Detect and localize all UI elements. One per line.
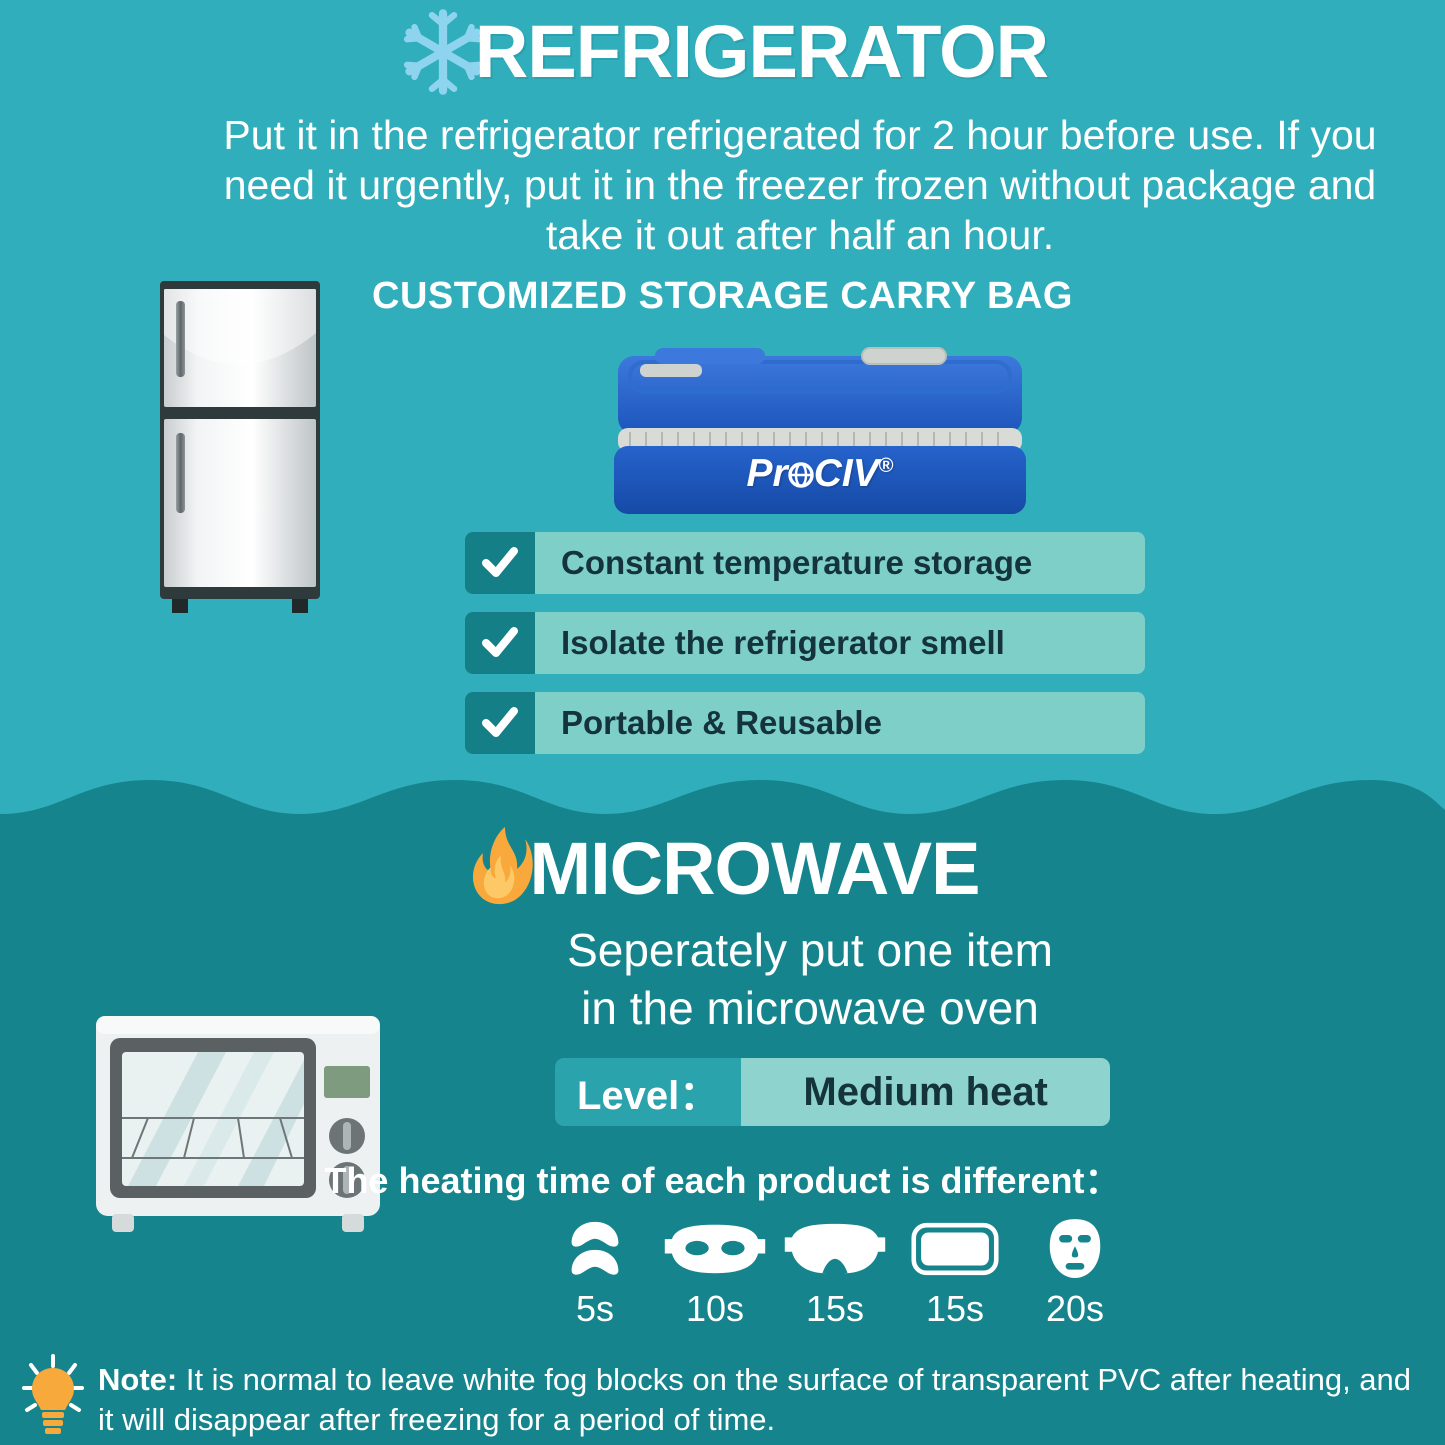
list-item: 15s bbox=[900, 1218, 1010, 1330]
level-value: Medium heat bbox=[741, 1058, 1110, 1126]
goggle-mask-icon bbox=[781, 1218, 889, 1280]
check-icon bbox=[465, 692, 535, 754]
footer-note: Note: It is normal to leave white fog bl… bbox=[22, 1352, 1432, 1442]
time-label: 10s bbox=[686, 1288, 744, 1330]
feature-label: Portable & Reusable bbox=[535, 692, 1145, 754]
time-label: 5s bbox=[576, 1288, 614, 1330]
list-item: Constant temperature storage bbox=[465, 532, 1145, 594]
list-item: 20s bbox=[1020, 1218, 1130, 1330]
check-icon bbox=[465, 532, 535, 594]
level-badge: Level： Medium heat bbox=[555, 1058, 1110, 1126]
list-item: 15s bbox=[780, 1218, 890, 1330]
feature-list: Constant temperature storage Isolate the… bbox=[465, 532, 1145, 772]
refrigerator-illustration bbox=[150, 275, 330, 615]
bag-brand-logo: PrCIV® bbox=[600, 452, 1040, 496]
list-item: 10s bbox=[660, 1218, 770, 1330]
brand-prefix: Pr bbox=[747, 452, 788, 495]
time-label: 15s bbox=[806, 1288, 864, 1330]
microwave-oven-illustration bbox=[88, 1008, 388, 1243]
refrigerator-instructions: Put it in the refrigerator refrigerated … bbox=[215, 110, 1385, 260]
microwave-instruction-line-1: Seperately put one item bbox=[430, 922, 1190, 980]
flame-icon bbox=[465, 825, 537, 911]
list-item: Isolate the refrigerator smell bbox=[465, 612, 1145, 674]
brand-suffix: CIV bbox=[814, 452, 879, 495]
note-text: Note: It is normal to leave white fog bl… bbox=[98, 1352, 1432, 1439]
nose-patch-icon bbox=[564, 1218, 626, 1280]
time-label: 15s bbox=[926, 1288, 984, 1330]
infographic-page: REFRIGERATOR Put it in the refrigerator … bbox=[0, 0, 1445, 1445]
microwave-heading: MICROWAVE bbox=[0, 822, 1445, 914]
globe-icon bbox=[786, 456, 816, 486]
trademark-symbol: ® bbox=[879, 455, 894, 477]
note-label: Note: bbox=[98, 1362, 177, 1397]
refrigerator-heading: REFRIGERATOR bbox=[0, 6, 1445, 96]
refrigerator-title: REFRIGERATOR bbox=[475, 9, 1048, 94]
carry-bag-illustration: PrCIV® bbox=[600, 340, 1040, 525]
microwave-instruction-line-2: in the microwave oven bbox=[430, 980, 1190, 1038]
gel-pack-icon bbox=[911, 1218, 999, 1280]
heating-time-note: The heating time of each product is diff… bbox=[0, 1152, 1445, 1204]
microwave-title: MICROWAVE bbox=[529, 826, 979, 911]
lightbulb-icon bbox=[22, 1354, 84, 1442]
note-body: It is normal to leave white fog blocks o… bbox=[98, 1362, 1411, 1437]
feature-label: Constant temperature storage bbox=[535, 532, 1145, 594]
eye-mask-icon bbox=[661, 1218, 769, 1280]
list-item: Portable & Reusable bbox=[465, 692, 1145, 754]
feature-label: Isolate the refrigerator smell bbox=[535, 612, 1145, 674]
time-label: 20s bbox=[1046, 1288, 1104, 1330]
list-item: 5s bbox=[540, 1218, 650, 1330]
face-mask-icon bbox=[1046, 1218, 1104, 1280]
microwave-instructions: Seperately put one item in the microwave… bbox=[430, 922, 1190, 1037]
heating-times-row: 5s 10s 15s bbox=[540, 1218, 1130, 1330]
check-icon bbox=[465, 612, 535, 674]
level-label: Level： bbox=[555, 1058, 741, 1126]
storage-bag-title: CUSTOMIZED STORAGE CARRY BAG bbox=[0, 275, 1445, 318]
